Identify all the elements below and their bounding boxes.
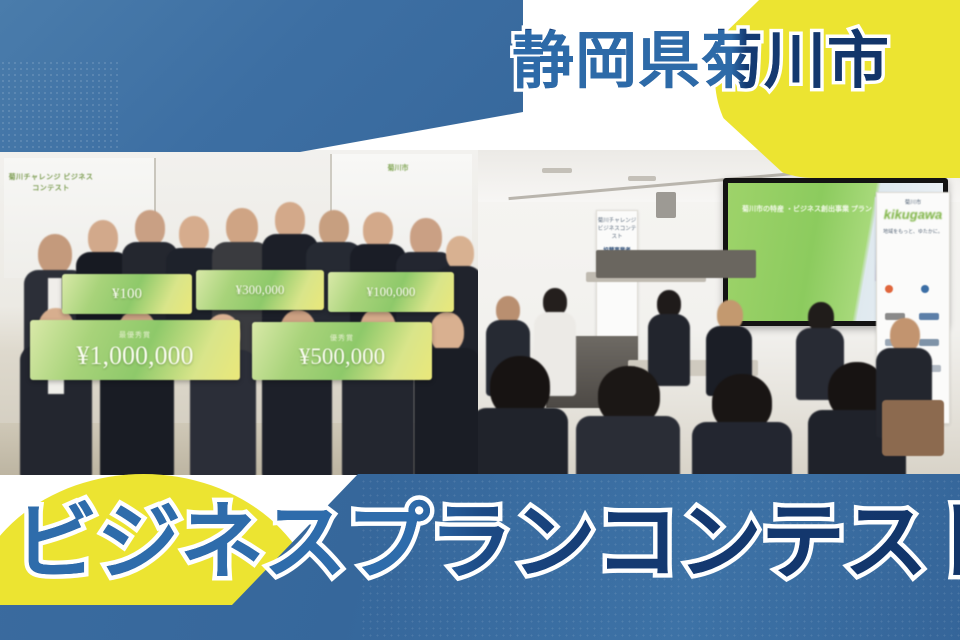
judge-desk [596,250,756,278]
ceiling-light-icon [628,176,656,181]
ceiling-light-icon [542,168,572,173]
sponsor-logo-dot [885,285,893,293]
prize-board: ¥300,000 [196,270,324,310]
prize-board-amount: ¥300,000 [236,282,285,298]
sponsor-banner-right-title: 菊川市 [877,193,949,207]
photo-strip: 菊川チャレンジ ビジネスコンテスト 菊川市 [0,150,960,475]
prize-board-amount: ¥100,000 [367,284,416,300]
prize-board-label: 優秀賞 [330,333,354,343]
slide-title: 菊川市の特産 ・ビジネス創出事業 プラン [742,205,872,215]
prize-board-amount: ¥500,000 [299,344,385,370]
page-title: 静岡県菊川市 [512,30,890,92]
prize-board: ¥100 [62,274,192,314]
prize-board-amount: ¥100 [112,286,142,303]
speaker-icon [656,192,676,218]
subtitle: ビジネスプランコンテスト [14,500,960,584]
sponsor-logo-dot [921,285,929,293]
top-blue-dot-texture [0,60,120,152]
audience-foreground [576,366,680,475]
prize-board-amount: ¥1,000,000 [77,341,194,371]
top-blue-shape [0,0,560,170]
ceremony-sign-text-right: 菊川市 [352,164,444,204]
prize-board-label: 最優秀賞 [119,330,151,340]
photo-presentation-room: 菊川市の特産 ・ビジネス創出事業 プラン 菊川チャレンジ ビジネスコンテスト 協… [478,150,960,475]
prize-board: ¥100,000 [328,272,454,312]
prize-board-main: 最優秀賞 ¥1,000,000 [30,320,240,380]
audience-foreground [692,374,792,475]
sponsor-banner-right-sub: 地域をもっと、ゆたかに。 [877,222,949,236]
prize-board-second: 優秀賞 ¥500,000 [252,322,432,380]
event-banner: 菊川チャレンジ ビジネスコンテスト 菊川市 [0,0,960,640]
chair [882,400,944,456]
audience-foreground [478,356,568,475]
photo-award-ceremony: 菊川チャレンジ ビジネスコンテスト 菊川市 [0,150,478,475]
sponsor-banner-left-text: 菊川チャレンジ ビジネスコンテスト [597,211,637,241]
sponsor-banner-right-logo: kikugawa [877,207,949,222]
ceremony-sign-text: 菊川チャレンジ ビジネスコンテスト [6,172,96,222]
